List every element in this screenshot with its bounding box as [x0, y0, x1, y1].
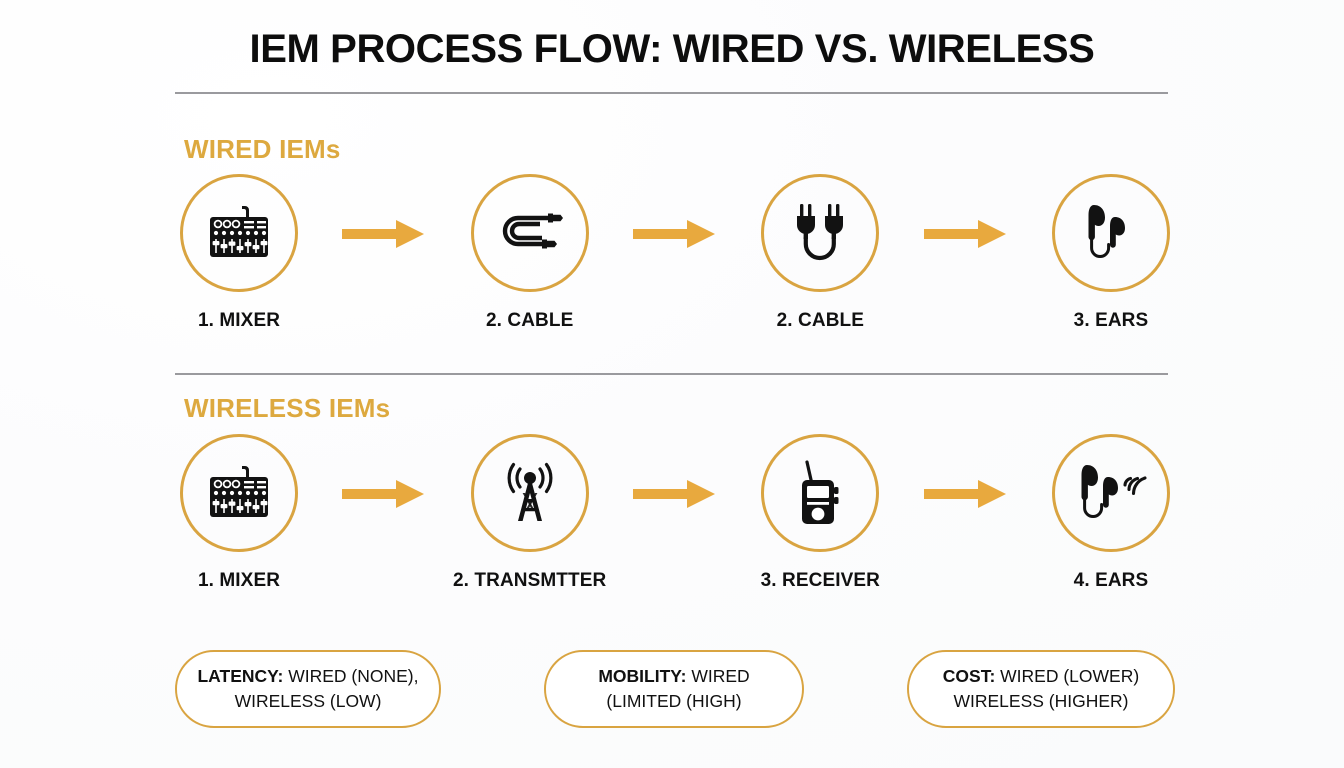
summary-pill-label: COST:	[943, 666, 996, 686]
bodypack-receiver-icon	[792, 460, 848, 526]
flow-node-label: 4. EARS	[1074, 570, 1149, 592]
divider-middle	[175, 373, 1168, 375]
flow-arrow-wireless-3	[921, 474, 1011, 514]
wireless-earbuds-icon	[1075, 461, 1147, 525]
arrow-right-icon	[633, 478, 717, 510]
node-circle	[471, 434, 589, 552]
node-circle	[761, 434, 879, 552]
arrow-right-icon	[924, 478, 1008, 510]
flow-node-label: 1. MIXER	[198, 310, 280, 332]
flow-node-wireless-ears[interactable]: 4. EARS	[1047, 434, 1175, 592]
arrow-right-icon	[342, 218, 426, 250]
coiled-cable-icon	[494, 205, 566, 261]
page-title: IEM PROCESS FLOW: WIRED VS. WIRELESS	[0, 27, 1344, 72]
summary-pill-text: COST: WIRED (LOWER) WIRELESS (HIGHER)	[927, 664, 1155, 714]
node-circle	[471, 174, 589, 292]
flow-arrow-wired-3	[921, 214, 1011, 254]
node-circle	[180, 174, 298, 292]
wired-earbuds-icon	[1082, 201, 1140, 265]
summary-pill-text: LATENCY: WIRED (NONE), WIRELESS (LOW)	[195, 664, 421, 714]
divider-top	[175, 92, 1168, 94]
summary-pill-cost[interactable]: COST: WIRED (LOWER) WIRELESS (HIGHER)	[907, 650, 1175, 728]
node-circle	[180, 434, 298, 552]
node-circle	[761, 174, 879, 292]
flow-node-label: 3. RECEIVER	[761, 570, 880, 592]
flow-arrow-wireless-2	[630, 474, 720, 514]
flow-node-wireless-receiver[interactable]: 3. RECEIVER	[756, 434, 884, 592]
infographic-canvas: IEM PROCESS FLOW: WIRED VS. WIRELESS WIR…	[0, 0, 1344, 768]
summary-pill-label: LATENCY:	[197, 666, 283, 686]
flow-arrow-wireless-1	[339, 474, 429, 514]
flow-arrow-wired-2	[630, 214, 720, 254]
arrow-right-icon	[342, 478, 426, 510]
flow-node-wired-cable-2[interactable]: 2. CABLE	[756, 174, 884, 332]
flow-node-wired-mixer[interactable]: 1. MIXER	[175, 174, 303, 332]
flow-node-label: 2. CABLE	[486, 310, 573, 332]
summary-pill-row: LATENCY: WIRED (NONE), WIRELESS (LOW) MO…	[175, 650, 1175, 728]
flow-node-label: 2. CABLE	[777, 310, 864, 332]
flow-node-wired-cable-1[interactable]: 2. CABLE	[466, 174, 594, 332]
node-circle	[1052, 174, 1170, 292]
flow-node-wireless-transmitter[interactable]: 2. TRANSMTTER	[466, 434, 594, 592]
mixer-icon	[206, 463, 272, 523]
flow-node-label: 1. MIXER	[198, 570, 280, 592]
mixer-icon	[206, 203, 272, 263]
flow-arrow-wired-1	[339, 214, 429, 254]
flow-row-wireless: 1. MIXER	[175, 434, 1175, 584]
summary-pill-label: MOBILITY:	[598, 666, 686, 686]
flow-node-label: 2. TRANSMTTER	[453, 570, 606, 592]
flow-node-label: 3. EARS	[1074, 310, 1149, 332]
summary-pill-latency[interactable]: LATENCY: WIRED (NONE), WIRELESS (LOW)	[175, 650, 441, 728]
dual-plug-cable-icon	[789, 201, 851, 265]
section-heading-wired: WIRED IEMs	[184, 134, 341, 165]
flow-node-wireless-mixer[interactable]: 1. MIXER	[175, 434, 303, 592]
flow-row-wired: 1. MIXER 2. CABL	[175, 174, 1175, 324]
arrow-right-icon	[924, 218, 1008, 250]
node-circle	[1052, 434, 1170, 552]
section-heading-wireless: WIRELESS IEMs	[184, 393, 390, 424]
summary-pill-text: MOBILITY: WIRED (LIMITED (HIGH)	[564, 664, 784, 714]
broadcast-tower-icon	[495, 461, 565, 525]
flow-node-wired-ears[interactable]: 3. EARS	[1047, 174, 1175, 332]
summary-pill-mobility[interactable]: MOBILITY: WIRED (LIMITED (HIGH)	[544, 650, 804, 728]
arrow-right-icon	[633, 218, 717, 250]
